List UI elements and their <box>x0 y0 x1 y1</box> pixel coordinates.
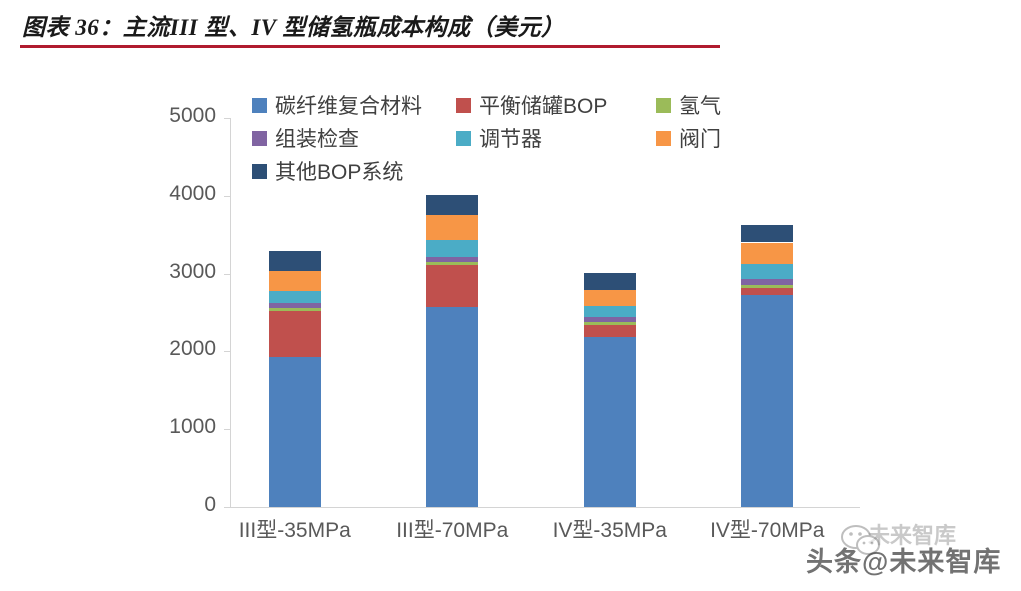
bar-segment[interactable] <box>584 317 636 322</box>
x-tick-label: IV型-35MPa <box>530 514 690 544</box>
legend-swatch-assembly-inspection <box>252 131 267 146</box>
chart-legend: 碳纤维复合材料 平衡储罐BOP 氢气 组装检查 调节器 <box>252 90 772 189</box>
bar-segment[interactable] <box>584 325 636 337</box>
x-axis-line <box>230 507 860 508</box>
bar-segment[interactable] <box>741 285 793 288</box>
legend-item-regulator[interactable]: 调节器 <box>456 123 542 153</box>
legend-label-hydrogen: 氢气 <box>679 90 721 120</box>
title-underline <box>20 45 720 48</box>
legend-row-2: 组装检查 调节器 阀门 <box>252 123 772 156</box>
legend-item-valve[interactable]: 阀门 <box>656 123 721 153</box>
y-tick-label: 3000 <box>130 260 216 284</box>
bar-segment[interactable] <box>426 262 478 265</box>
x-tick-label: III型-70MPa <box>372 514 532 544</box>
legend-row-1: 碳纤维复合材料 平衡储罐BOP 氢气 <box>252 90 772 123</box>
legend-label-carbon-fiber: 碳纤维复合材料 <box>275 90 422 120</box>
legend-label-regulator: 调节器 <box>479 123 542 153</box>
bar-segment[interactable] <box>741 243 793 264</box>
bar-segment[interactable] <box>584 306 636 317</box>
bar-segment[interactable] <box>269 271 321 291</box>
bar-segment[interactable] <box>584 337 636 507</box>
chart-page: 图表 36：主流III 型、IV 型储氢瓶成本构成（美元） 0100020003… <box>0 0 1021 591</box>
chart-area: 010002000300040005000 III型-35MPaIII型-70M… <box>0 52 1021 591</box>
legend-label-assembly-inspection: 组装检查 <box>275 123 359 153</box>
bar-segment[interactable] <box>269 303 321 308</box>
legend-item-hydrogen[interactable]: 氢气 <box>656 90 721 120</box>
legend-item-other-bop[interactable]: 其他BOP系统 <box>252 156 403 186</box>
legend-row-3: 其他BOP系统 <box>252 156 772 189</box>
y-tick-mark <box>224 507 230 508</box>
legend-item-carbon-fiber[interactable]: 碳纤维复合材料 <box>252 90 422 120</box>
bar-segment[interactable] <box>741 295 793 507</box>
legend-item-assembly-inspection[interactable]: 组装检查 <box>252 123 359 153</box>
y-tick-label: 4000 <box>130 182 216 206</box>
legend-swatch-balance-tank-bop <box>456 98 471 113</box>
x-tick-label: III型-35MPa <box>215 514 375 544</box>
bar-segment[interactable] <box>269 311 321 357</box>
legend-label-valve: 阀门 <box>679 123 721 153</box>
bar-segment[interactable] <box>269 357 321 507</box>
bar-segment[interactable] <box>269 251 321 271</box>
legend-label-balance-tank-bop: 平衡储罐BOP <box>479 90 607 120</box>
legend-item-balance-tank-bop[interactable]: 平衡储罐BOP <box>456 90 607 120</box>
title-block: 图表 36：主流III 型、IV 型储氢瓶成本构成（美元） <box>0 0 1021 52</box>
bar-segment[interactable] <box>426 265 478 307</box>
y-axis-labels: 010002000300040005000 <box>130 118 216 508</box>
legend-swatch-hydrogen <box>656 98 671 113</box>
page-title: 图表 36：主流III 型、IV 型储氢瓶成本构成（美元） <box>22 8 564 42</box>
bar-segment[interactable] <box>426 240 478 257</box>
y-tick-label: 1000 <box>130 415 216 439</box>
legend-label-other-bop: 其他BOP系统 <box>275 156 403 186</box>
bar-segment[interactable] <box>584 273 636 290</box>
bar-segment[interactable] <box>741 288 793 294</box>
bar-segment[interactable] <box>741 225 793 243</box>
watermark: 头条@未来智库 <box>806 540 1001 579</box>
y-tick-label: 0 <box>130 493 216 517</box>
legend-swatch-other-bop <box>252 164 267 179</box>
legend-swatch-valve <box>656 131 671 146</box>
legend-swatch-carbon-fiber <box>252 98 267 113</box>
bar-segment[interactable] <box>269 308 321 311</box>
legend-swatch-regulator <box>456 131 471 146</box>
watermark-text: 头条@未来智库 <box>806 540 1001 579</box>
bar-segment[interactable] <box>584 322 636 325</box>
bar-segment[interactable] <box>741 264 793 280</box>
y-tick-label: 2000 <box>130 337 216 361</box>
bar-segment[interactable] <box>426 215 478 240</box>
bar-segment[interactable] <box>426 307 478 507</box>
y-tick-label: 5000 <box>130 104 216 128</box>
bar-segment[interactable] <box>584 290 636 307</box>
bar-segment[interactable] <box>741 279 793 285</box>
bar-segment[interactable] <box>269 291 321 303</box>
bar-segment[interactable] <box>426 195 478 215</box>
bar-segment[interactable] <box>426 257 478 262</box>
